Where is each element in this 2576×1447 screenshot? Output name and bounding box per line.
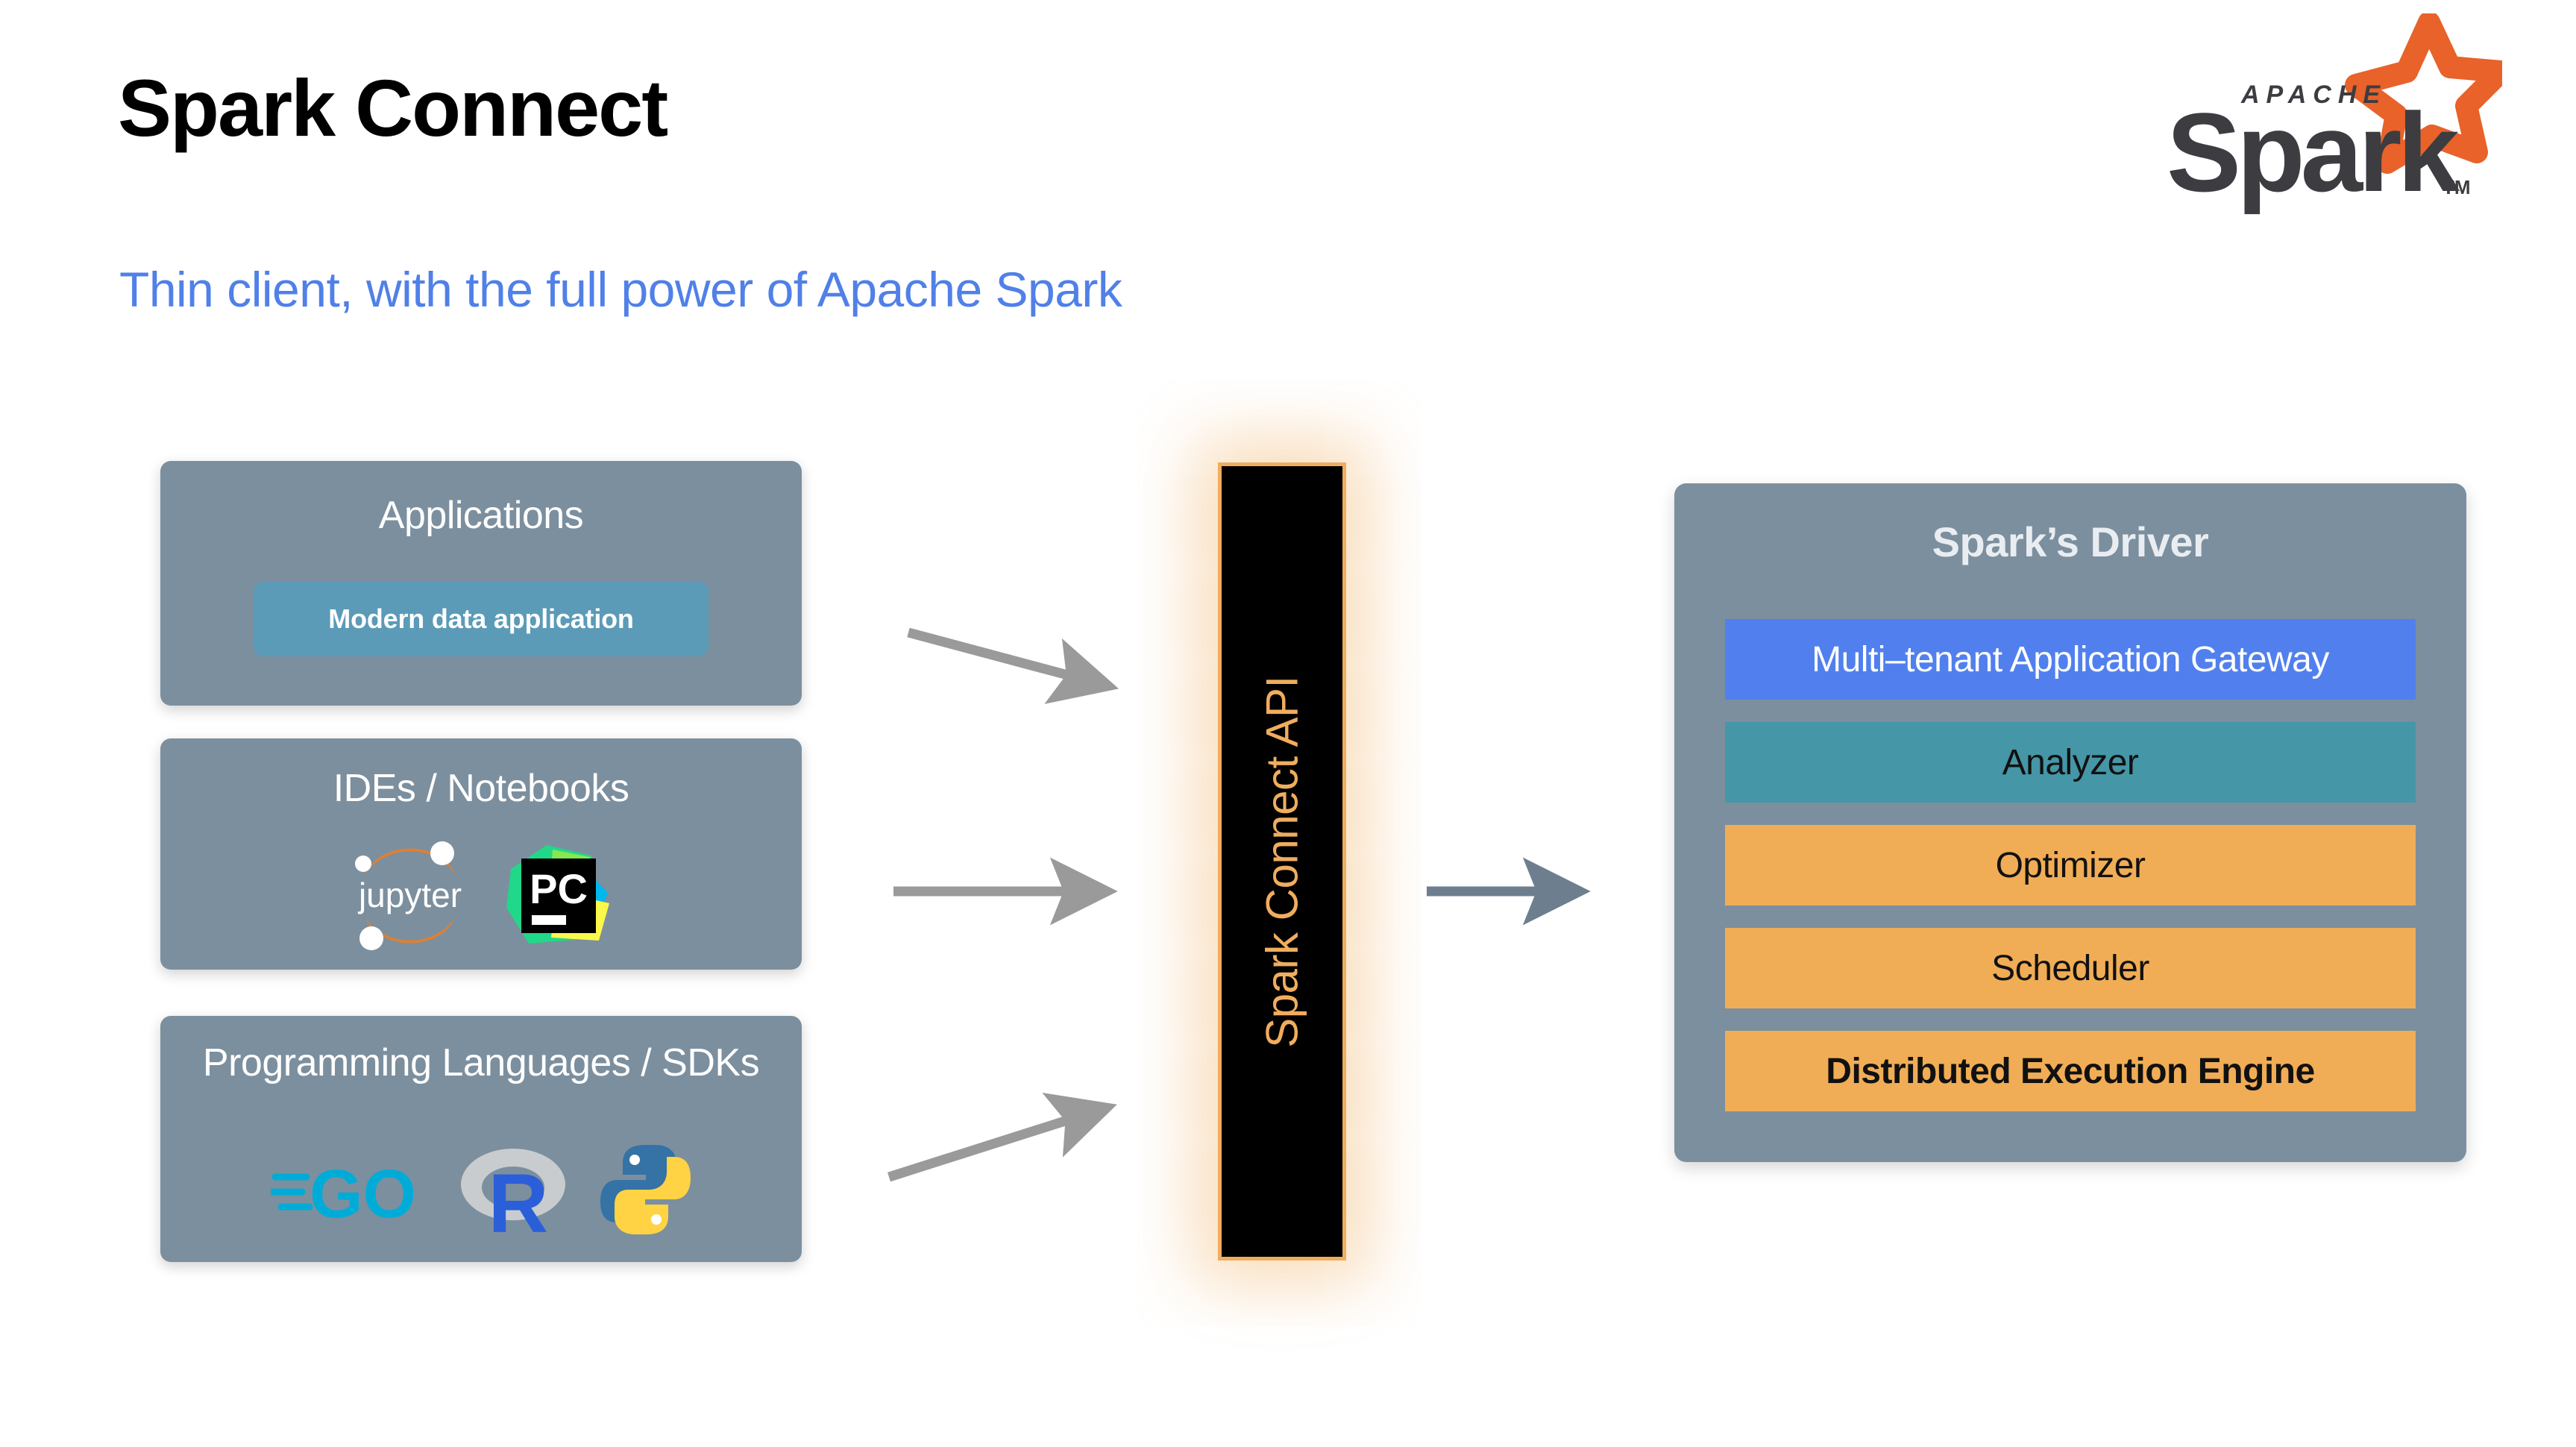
driver-bar-label: Analyzer [2002,742,2139,783]
svg-text:PC: PC [530,865,588,912]
spark-driver-panel[interactable]: Spark’s Driver Multi–tenant Application … [1674,483,2466,1162]
go-logo: GO [271,1149,427,1234]
modern-data-application-pill[interactable]: Modern data application [254,582,709,656]
apache-spark-logo: APACHE Spark TM [2129,13,2502,226]
client-card-programming-languages[interactable]: Programming Languages / SDKs GO [160,1016,802,1262]
client-card-applications[interactable]: Applications Modern data application [160,461,802,706]
pycharm-logo: PC [503,839,615,955]
driver-bar-analyzer[interactable]: Analyzer [1725,722,2416,803]
arrow-applications-to-api [908,633,1104,685]
ide-logo-row: jupyter PC [160,835,802,958]
r-logo: R [457,1141,569,1242]
arrow-languages-to-api [889,1109,1102,1177]
svg-text:R: R [488,1157,548,1238]
card-title: IDEs / Notebooks [160,738,802,812]
driver-bar-label: Optimizer [1996,845,2146,886]
driver-panel-title: Spark’s Driver [1674,483,2466,566]
card-title: Applications [160,461,802,539]
svg-text:GO: GO [310,1156,416,1231]
slide-canvas: Spark Connect Thin client, with the full… [0,0,2576,1447]
pill-label: Modern data application [328,603,633,635]
python-logo [599,1142,692,1241]
jupyter-logo: jupyter [347,835,474,958]
driver-bar-optimizer[interactable]: Optimizer [1725,825,2416,905]
page-subtitle: Thin client, with the full power of Apac… [119,261,1122,318]
driver-bar-label: Distributed Execution Engine [1826,1051,2314,1092]
logo-wordmark: Spark [2167,90,2460,215]
driver-bar-label: Scheduler [1991,948,2149,989]
language-logo-row: GO R [160,1141,802,1242]
svg-text:jupyter: jupyter [357,876,462,914]
api-bar-label: Spark Connect API [1257,676,1308,1047]
client-card-ides-notebooks[interactable]: IDEs / Notebooks jupyter [160,738,802,970]
driver-bar-distributed-execution-engine[interactable]: Distributed Execution Engine [1725,1031,2416,1111]
driver-bar-label: Multi–tenant Application Gateway [1812,639,2329,680]
logo-trademark: TM [2443,176,2471,198]
driver-bar-multi-tenant-application-gateway[interactable]: Multi–tenant Application Gateway [1725,619,2416,700]
spark-connect-api-bar[interactable]: Spark Connect API [1218,462,1346,1261]
page-title: Spark Connect [118,66,667,150]
driver-bar-scheduler[interactable]: Scheduler [1725,928,2416,1008]
card-title: Programming Languages / SDKs [160,1016,802,1086]
